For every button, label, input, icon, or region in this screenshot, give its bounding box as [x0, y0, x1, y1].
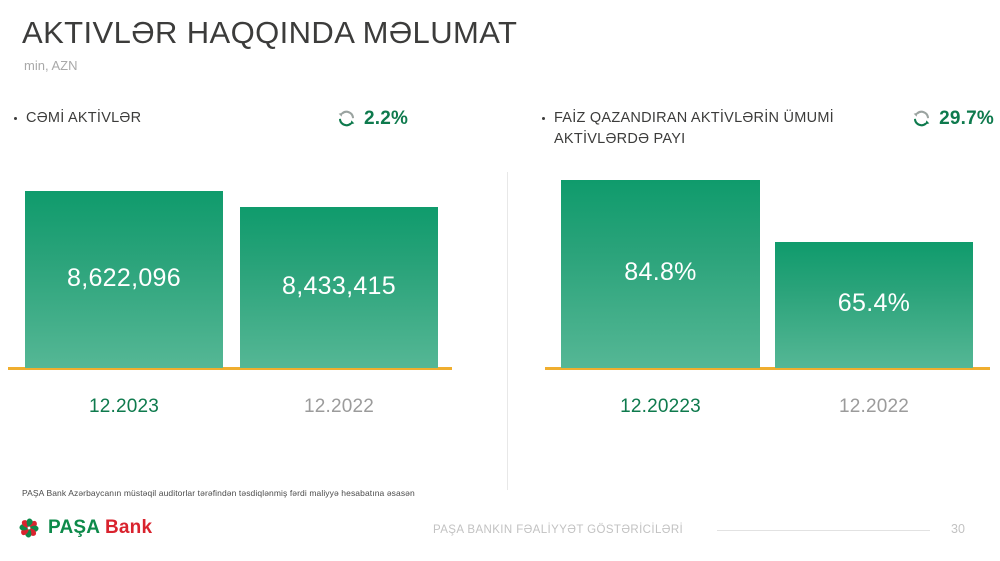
page-number: 30 [951, 522, 965, 537]
brand-wordmark-secondary: Bank [105, 517, 152, 538]
bar-column: 8,622,096 [25, 191, 223, 368]
metric-header-left: CƏMİ AKTİVLƏR 2.2% [0, 108, 500, 168]
metric-label-left: CƏMİ AKTİVLƏR [14, 108, 141, 129]
slide-canvas: AKTIVLƏR HAQQINDA MƏLUMAT min, AZN CƏMİ … [0, 0, 1000, 561]
refresh-arrows-icon [336, 108, 357, 129]
bar-value-label: 8,433,415 [282, 272, 396, 300]
metric-change-value: 2.2% [364, 108, 408, 129]
footer-deck-title: PAŞA BANKIN FƏALİYYƏT GÖSTƏRİCİLƏRİ [433, 523, 683, 537]
chart-panel-total-assets: CƏMİ AKTİVLƏR 2.2% 8,622,096 [0, 100, 500, 500]
metric-change-value: 29.7% [939, 108, 994, 129]
metric-header-right: FAİZ QAZANDIRAN AKTİVLƏRİN ÜMUMİ AKTİVLƏ… [508, 108, 1000, 168]
pasa-pinwheel-logo-icon [18, 517, 40, 539]
slide-footer: PAŞA Bank PAŞA BANKIN FƏALİYYƏT GÖSTƏRİC… [0, 513, 1000, 561]
bar-value-label: 8,622,096 [67, 264, 181, 292]
page-title: AKTIVLƏR HAQQINDA MƏLUMAT [22, 14, 517, 52]
chart-panel-interest-earning-share: FAİZ QAZANDIRAN AKTİVLƏRİN ÜMUMİ AKTİVLƏ… [508, 100, 1000, 500]
category-label: 12.2022 [240, 395, 438, 418]
bar-value-label: 84.8% [624, 258, 696, 286]
refresh-arrows-icon [911, 108, 932, 129]
brand-wordmark-primary: PAŞA [48, 517, 105, 538]
footnote: PAŞA Bank Azərbaycanın müstəqil auditorl… [22, 487, 415, 499]
metric-label-right: FAİZ QAZANDIRAN AKTİVLƏRİN ÜMUMİ AKTİVLƏ… [542, 108, 842, 150]
footer-rule [717, 530, 930, 531]
brand-wordmark: PAŞA Bank [48, 517, 152, 539]
category-label: 12.2022 [775, 395, 973, 418]
page-subtitle: min, AZN [24, 58, 77, 74]
bar-column: 65.4% [775, 242, 973, 368]
category-label: 12.20223 [561, 395, 760, 418]
bar-chart-interest-earning-share: 84.8% 65.4% 12.20223 12.2022 [508, 200, 1000, 460]
metric-change-left: 2.2% [336, 108, 408, 129]
bar-column: 84.8% [561, 180, 760, 368]
bullet-icon [14, 117, 17, 120]
bar-chart-total-assets: 8,622,096 8,433,415 12.2023 12.2022 [0, 200, 500, 460]
bullet-icon [542, 117, 545, 120]
bar-value-label: 65.4% [838, 289, 910, 317]
category-label: 12.2023 [25, 395, 223, 418]
brand-logo: PAŞA Bank [18, 517, 152, 539]
metric-label-text: CƏMİ AKTİVLƏR [26, 108, 141, 129]
metric-label-text: FAİZ QAZANDIRAN AKTİVLƏRİN ÜMUMİ AKTİVLƏ… [554, 108, 842, 150]
bar-column: 8,433,415 [240, 207, 438, 368]
metric-change-right: 29.7% [911, 108, 994, 129]
